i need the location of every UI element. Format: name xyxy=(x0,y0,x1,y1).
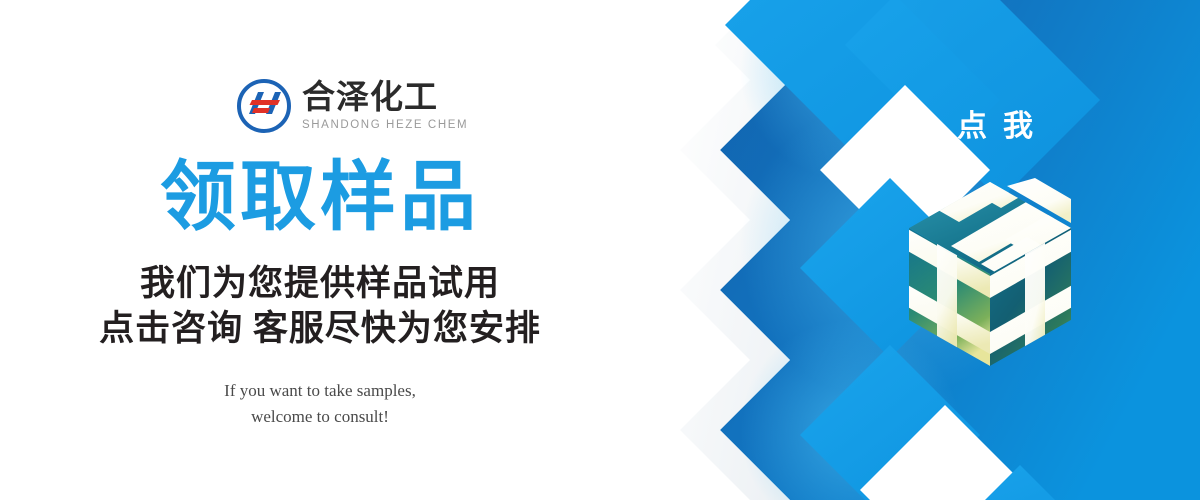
subheadline-line-1: 我们为您提供样品试用 xyxy=(0,262,640,307)
isometric-cube-icon[interactable] xyxy=(885,168,1095,378)
heze-chem-monogram-icon xyxy=(236,78,292,134)
brand-name-cn: 合泽化工 xyxy=(302,79,468,115)
brand-name-en: SHANDONG HEZE CHEM xyxy=(302,119,468,133)
cta-cube-button[interactable] xyxy=(885,168,1095,378)
left-content-area: 合泽化工 SHANDONG HEZE CHEM 领取样品 我们为您提供样品试用 … xyxy=(0,0,640,500)
promo-headline: 领取样品 xyxy=(0,160,640,236)
promo-banner: 合泽化工 SHANDONG HEZE CHEM 领取样品 我们为您提供样品试用 … xyxy=(0,0,1200,500)
promo-subheadline: 我们为您提供样品试用 点击咨询 客服尽快为您安排 xyxy=(0,262,640,352)
english-caption-line-2: welcome to consult! xyxy=(0,404,640,430)
brand-wordmark: 合泽化工 SHANDONG HEZE CHEM xyxy=(302,79,468,132)
subheadline-line-2: 点击咨询 客服尽快为您安排 xyxy=(0,307,640,352)
english-caption-line-1: If you want to take samples, xyxy=(0,378,640,404)
brand-logo: 合泽化工 SHANDONG HEZE CHEM xyxy=(236,78,468,134)
promo-english-caption: If you want to take samples, welcome to … xyxy=(0,378,640,431)
click-me-label[interactable]: 点我 xyxy=(925,112,1065,142)
